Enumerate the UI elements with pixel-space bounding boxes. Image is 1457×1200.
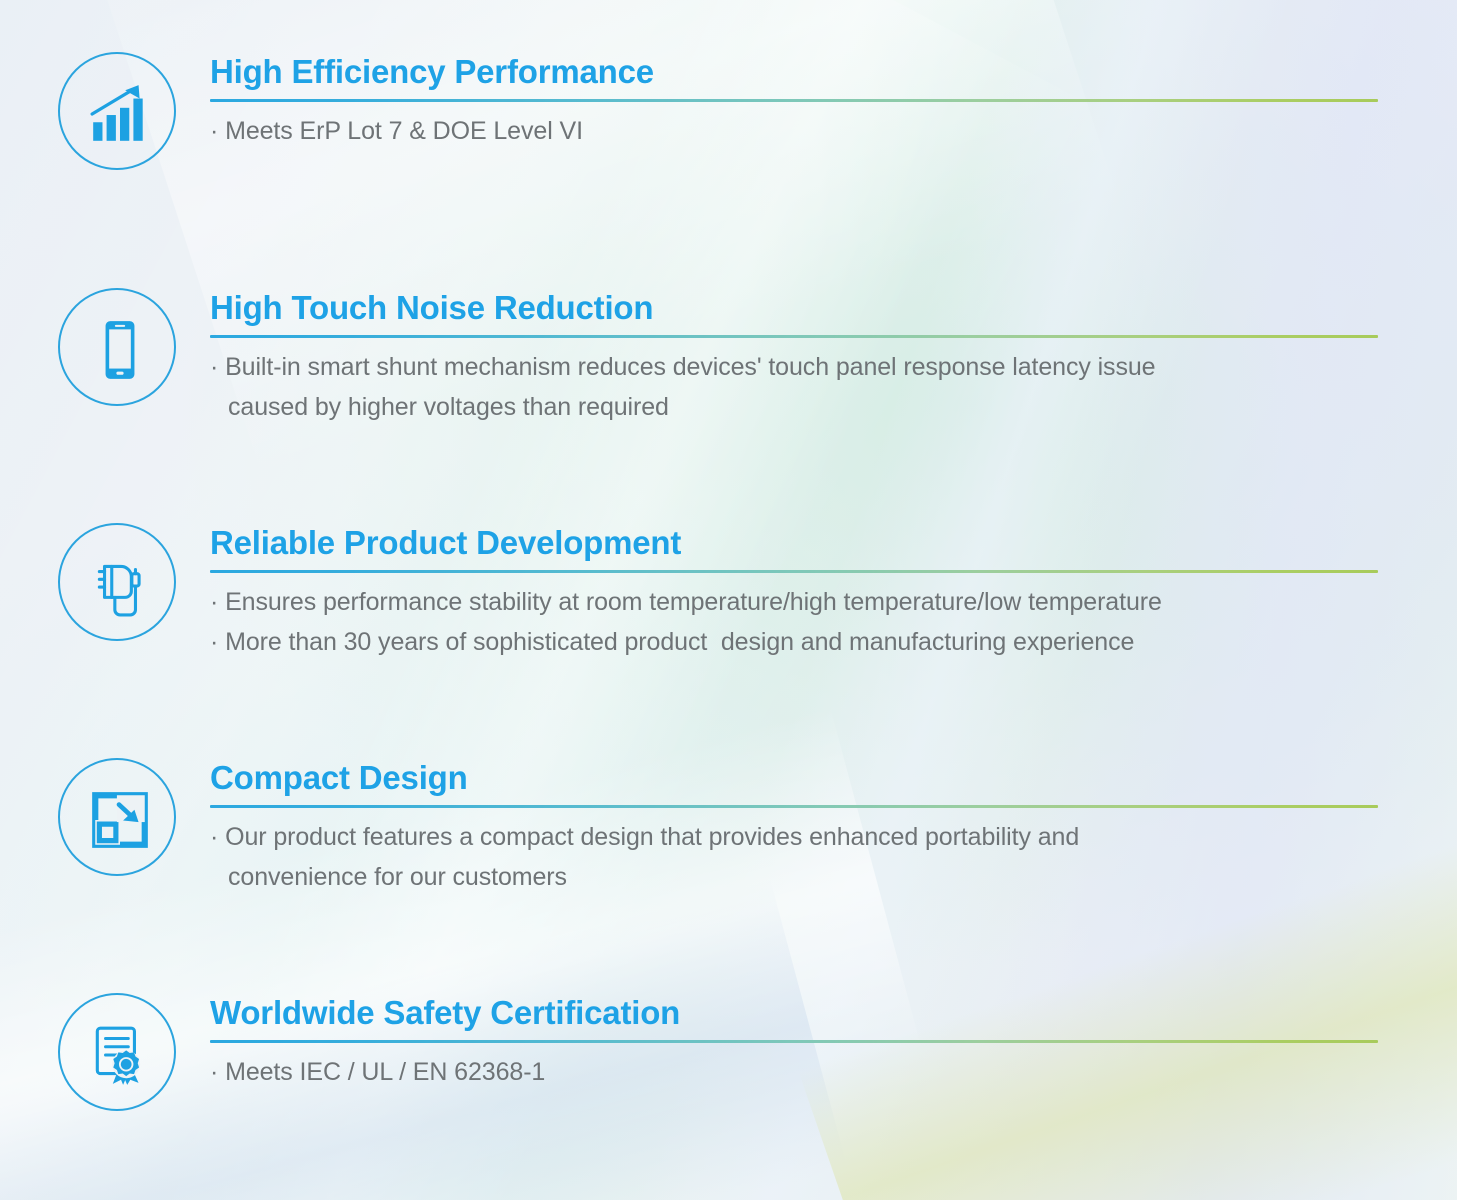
feature-text-column: Reliable Product Development · Ensures p… <box>210 523 1390 664</box>
feature-divider <box>210 99 1378 102</box>
bullet-marker: · <box>210 628 218 656</box>
feature-icon-wrap <box>58 523 182 647</box>
feature-bullets: · Our product features a compact design … <box>210 819 1390 896</box>
bullet-marker: · <box>210 117 218 145</box>
bullet-text: Our product features a compact design th… <box>225 823 1079 851</box>
bullet-text: More than 30 years of sophisticated prod… <box>225 628 1134 656</box>
bullet-text: Meets ErP Lot 7 & DOE Level VI <box>225 117 583 145</box>
feature-title: Worldwide Safety Certification <box>210 993 1390 1033</box>
compact-resize-icon <box>87 787 153 853</box>
feature-bullet: · Ensures performance stability at room … <box>210 584 1390 621</box>
feature-highlights-page: High Efficiency Performance · Meets ErP … <box>0 0 1457 1200</box>
feature-bullet-continuation: caused by higher voltages than required <box>210 389 1390 426</box>
feature-divider <box>210 1040 1378 1043</box>
feature-bullets: · Built-in smart shunt mechanism reduces… <box>210 349 1390 426</box>
feature-bullet-continuation: convenience for our customers <box>210 859 1390 896</box>
bullet-marker: · <box>210 588 218 616</box>
bullet-text: Ensures performance stability at room te… <box>225 588 1162 616</box>
bullet-text: Meets IEC / UL / EN 62368-1 <box>225 1058 545 1086</box>
feature-title: High Touch Noise Reduction <box>210 288 1390 328</box>
certificate-seal-icon <box>87 1022 153 1088</box>
bullet-marker: · <box>210 353 218 381</box>
feature-text-column: Worldwide Safety Certification · Meets I… <box>210 993 1390 1094</box>
feature-bullets: · Ensures performance stability at room … <box>210 584 1390 661</box>
feature-bullets: · Meets ErP Lot 7 & DOE Level VI <box>210 113 1390 150</box>
bar-chart-growth-icon <box>87 81 153 147</box>
feature-title: Compact Design <box>210 758 1390 798</box>
smartphone-icon <box>87 317 153 383</box>
feature-icon-wrap <box>58 288 182 412</box>
feature-icon-wrap <box>58 758 182 882</box>
bullet-text: caused by higher voltages than required <box>228 393 669 421</box>
feature-divider <box>210 570 1378 573</box>
feature-icon-wrap <box>58 993 182 1117</box>
feature-bullet: · Our product features a compact design … <box>210 819 1390 856</box>
feature-bullet: · Meets ErP Lot 7 & DOE Level VI <box>210 113 1390 150</box>
feature-title: High Efficiency Performance <box>210 52 1390 92</box>
bullet-marker: · <box>210 1058 218 1086</box>
feature-bullet: · More than 30 years of sophisticated pr… <box>210 624 1390 661</box>
feature-list: High Efficiency Performance · Meets ErP … <box>0 0 1457 1200</box>
feature-icon-wrap <box>58 52 182 176</box>
feature-text-column: Compact Design · Our product features a … <box>210 758 1390 899</box>
feature-divider <box>210 805 1378 808</box>
feature-title: Reliable Product Development <box>210 523 1390 563</box>
feature-text-column: High Efficiency Performance · Meets ErP … <box>210 52 1390 153</box>
feature-bullets: · Meets IEC / UL / EN 62368-1 <box>210 1054 1390 1091</box>
feature-text-column: High Touch Noise Reduction · Built-in sm… <box>210 288 1390 429</box>
bullet-text: Built-in smart shunt mechanism reduces d… <box>225 353 1155 381</box>
feature-bullet: · Built-in smart shunt mechanism reduces… <box>210 349 1390 386</box>
feature-bullet: · Meets IEC / UL / EN 62368-1 <box>210 1054 1390 1091</box>
feature-divider <box>210 335 1378 338</box>
power-adapter-icon <box>87 552 153 618</box>
bullet-marker: · <box>210 823 218 851</box>
bullet-text: convenience for our customers <box>228 863 567 891</box>
